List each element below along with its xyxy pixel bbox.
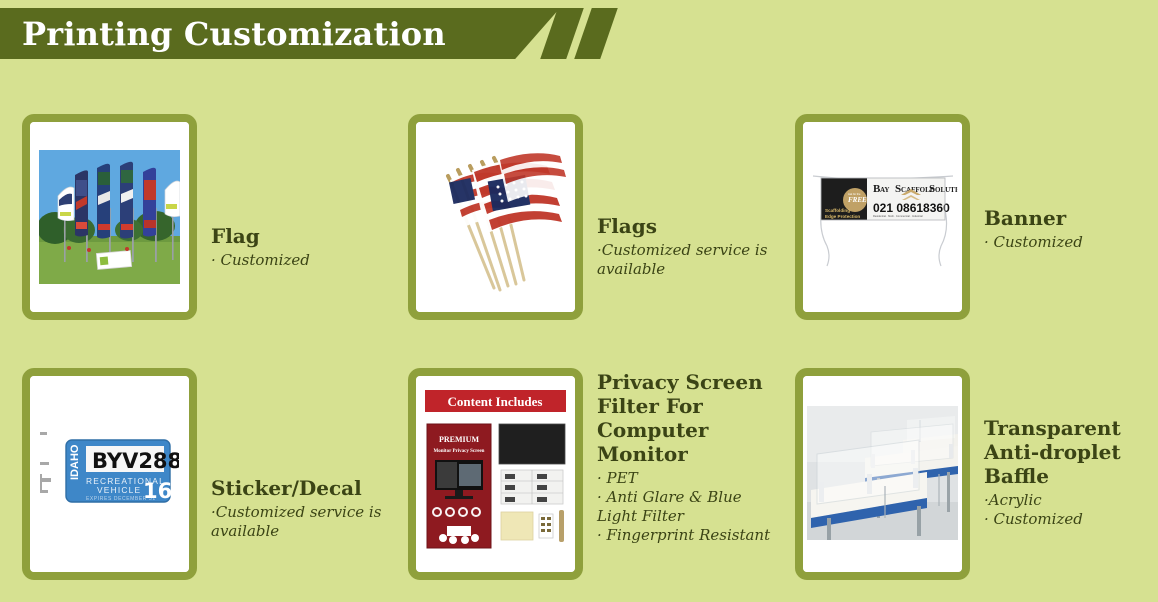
usa-hand-flags-artwork [420, 128, 571, 306]
product-title: Flags [597, 214, 774, 238]
product-bullet: · Fingerprint Resistant [597, 526, 774, 545]
product-caption-flag: Flag · Customized [197, 114, 387, 270]
product-caption-privacy-screen: Privacy Screen Filter For Computer Monit… [583, 368, 774, 545]
product-bullets: ·Customized service is available [211, 503, 387, 541]
privacy-filter-kit-photo: Content Includes PREMIUM Monitor Privacy… [416, 376, 575, 572]
product-bullets: ·Customized service is available [597, 241, 774, 279]
usa-hand-flags-photo [416, 122, 575, 312]
svg-text:Residential · Multi · Commerci: Residential · Multi · Commercial · Indus… [873, 214, 923, 218]
product-entry-flags: Flags ·Customized service is available [408, 114, 774, 320]
product-caption-flags: Flags ·Customized service is available [583, 114, 774, 279]
product-title: Transparent Anti-droplet Baffle [984, 416, 1135, 488]
page-title: Printing Customization [0, 15, 446, 53]
privacy-filter-kit-artwork: Content Includes PREMIUM Monitor Privacy… [419, 384, 572, 564]
product-card-privacy-screen[interactable]: Content Includes PREMIUM Monitor Privacy… [408, 368, 583, 580]
feather-flags-artwork [39, 150, 180, 284]
svg-text:VEHICLE: VEHICLE [97, 485, 141, 495]
product-bullets: · Customized [211, 251, 387, 270]
product-card-flag[interactable] [22, 114, 197, 320]
svg-text:Monitor Privacy Screen: Monitor Privacy Screen [434, 449, 485, 454]
svg-text:OLUTIONS: OLUTIONS [935, 186, 958, 194]
product-entry-banner: B AY S CAFFOLD S OLUTIONS 021 08618360 R… [795, 114, 1135, 320]
acrylic-baffle-photo [803, 376, 962, 572]
acrylic-baffle-artwork [807, 406, 958, 540]
svg-text:AY: AY [880, 186, 889, 194]
product-bullet: ·Acrylic [984, 491, 1135, 510]
svg-text:PREMIUM: PREMIUM [439, 435, 479, 444]
product-title: Sticker/Decal [211, 476, 387, 500]
product-entry-sticker-decal: IDAHO BYV288 RECREATIONAL VEHICLE EXPIRE… [22, 368, 387, 580]
product-card-banner[interactable]: B AY S CAFFOLD S OLUTIONS 021 08618360 R… [795, 114, 970, 320]
vinyl-banner-artwork: B AY S CAFFOLD S OLUTIONS 021 08618360 R… [807, 162, 958, 272]
svg-text:021 08618360: 021 08618360 [873, 201, 950, 215]
product-bullet: · Customized [984, 233, 1135, 252]
svg-text:16: 16 [143, 479, 172, 503]
vehicle-decal-artwork: IDAHO BYV288 RECREATIONAL VEHICLE EXPIRE… [40, 428, 179, 520]
product-entry-privacy-screen: Content Includes PREMIUM Monitor Privacy… [408, 368, 774, 580]
product-bullet: · Customized [211, 251, 387, 270]
product-card-sticker-decal[interactable]: IDAHO BYV288 RECREATIONAL VEHICLE EXPIRE… [22, 368, 197, 580]
product-bullet: · Anti Glare & Blue Light Filter [597, 488, 774, 526]
product-bullets: · PET · Anti Glare & Blue Light Filter ·… [597, 469, 774, 545]
product-bullet: · PET [597, 469, 774, 488]
svg-text:Content Includes: Content Includes [448, 394, 543, 409]
svg-text:Edge Protection: Edge Protection [825, 214, 860, 219]
product-card-baffle[interactable] [795, 368, 970, 580]
product-card-flags[interactable] [408, 114, 583, 320]
svg-text:IDAHO: IDAHO [69, 444, 81, 480]
product-bullets: ·Acrylic · Customized [984, 491, 1135, 529]
product-bullet: ·Customized service is available [211, 503, 387, 541]
product-row-top: Flag · Customized [0, 114, 1158, 320]
product-caption-sticker-decal: Sticker/Decal ·Customized service is ava… [197, 368, 387, 541]
product-entry-flag: Flag · Customized [22, 114, 387, 320]
product-title: Banner [984, 206, 1135, 230]
vinyl-banner-photo: B AY S CAFFOLD S OLUTIONS 021 08618360 R… [803, 122, 962, 312]
product-bullets: · Customized [984, 233, 1135, 252]
product-title: Privacy Screen Filter For Computer Monit… [597, 370, 774, 466]
svg-text:FREE: FREE [848, 196, 867, 204]
product-entry-baffle: Transparent Anti-droplet Baffle ·Acrylic… [795, 368, 1135, 580]
product-row-bottom: IDAHO BYV288 RECREATIONAL VEHICLE EXPIRE… [0, 368, 1158, 580]
svg-text:Scaffolding: Scaffolding [825, 208, 850, 213]
vehicle-decal-photo: IDAHO BYV288 RECREATIONAL VEHICLE EXPIRE… [30, 376, 189, 572]
product-bullet: · Customized [984, 510, 1135, 529]
svg-text:BYV288: BYV288 [92, 449, 179, 473]
product-title: Flag [211, 224, 387, 248]
feather-flags-photo [30, 122, 189, 312]
page-header-bar: Printing Customization [0, 8, 560, 59]
product-caption-baffle: Transparent Anti-droplet Baffle ·Acrylic… [970, 368, 1135, 529]
product-caption-banner: Banner · Customized [970, 114, 1135, 252]
svg-text:Ask for the: Ask for the [848, 192, 861, 196]
product-bullet: ·Customized service is available [597, 241, 774, 279]
